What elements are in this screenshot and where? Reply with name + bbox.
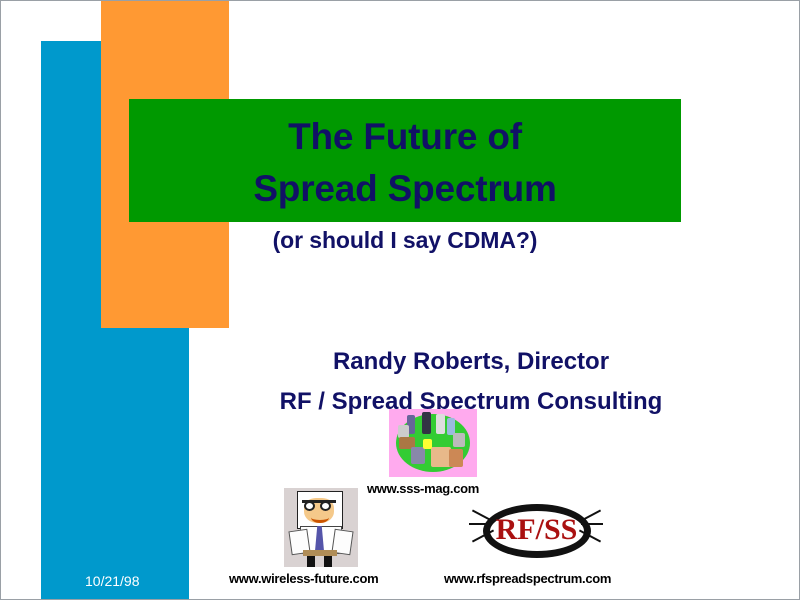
figure-icon — [449, 449, 463, 467]
sss-mag-caption: www.sss-mag.com — [367, 481, 479, 496]
slide-title-line-1: The Future of — [129, 111, 681, 163]
leg-icon — [307, 556, 315, 567]
figure-icon — [453, 433, 465, 447]
sss-mag-logo-image — [389, 409, 477, 477]
figure-icon — [436, 414, 445, 434]
leg-icon — [324, 556, 332, 567]
slide-subtitle: (or should I say CDMA?) — [129, 227, 681, 254]
wireless-future-caption: www.wireless-future.com — [229, 571, 378, 586]
figure-icon — [423, 439, 432, 449]
rfss-wordmark: RF/SS — [469, 513, 604, 547]
rf-spread-spectrum-caption: www.rfspreadspectrum.com — [444, 571, 611, 586]
figure-icon — [431, 447, 451, 467]
figure-icon — [411, 447, 425, 464]
presentation-slide: The Future of Spread Spectrum (or should… — [0, 0, 800, 600]
wireless-future-logo-image — [284, 488, 358, 567]
eye-icon — [320, 501, 331, 511]
slide-date: 10/21/98 — [85, 573, 140, 589]
smile-icon — [311, 512, 329, 523]
presenter-name: Randy Roberts, Director — [191, 342, 751, 382]
eye-icon — [304, 501, 315, 511]
slide-title-line-2: Spread Spectrum — [129, 163, 681, 215]
figure-icon — [422, 412, 431, 434]
slide-title: The Future of Spread Spectrum — [129, 111, 681, 215]
rf-spread-spectrum-logo-image: RF/SS — [469, 501, 604, 563]
